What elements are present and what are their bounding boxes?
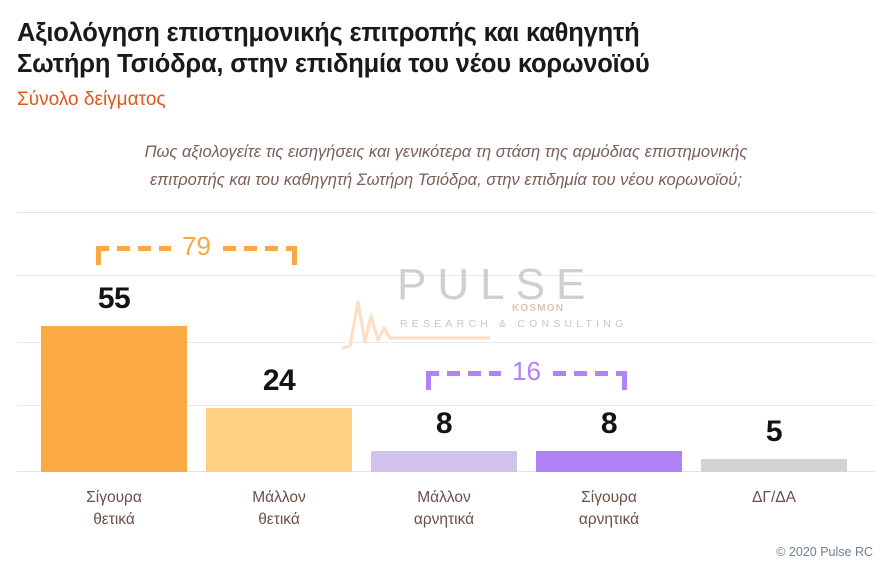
bar-1 (41, 326, 187, 472)
bar-value-label: 55 (41, 284, 187, 314)
survey-question: Πως αξιολογείτε τις εισηγήσεις και γενικ… (36, 138, 856, 194)
gridline (17, 212, 875, 213)
category-label-line: αρνητικά (536, 509, 682, 531)
category-label-line: ΔΓ/ΔΑ (701, 487, 847, 509)
title-line-1: Αξιολόγηση επιστημονικής επιτροπής και κ… (17, 18, 817, 49)
bracket-line-left (426, 371, 501, 376)
copyright-footer: © 2020 Pulse RC (776, 545, 873, 559)
title-line-2: Σωτήρη Τσιόδρα, στην επιδημία του νέου κ… (17, 49, 817, 80)
category-label-line: αρνητικά (371, 509, 517, 531)
bar-5 (701, 459, 847, 472)
category-label-line: Σίγουρα (41, 487, 187, 509)
bar-3 (371, 451, 517, 472)
category-label-line: Σίγουρα (536, 487, 682, 509)
bracket-line-right (223, 246, 298, 251)
category-label-2: Μάλλονθετικά (206, 487, 352, 531)
bracket-tick-right (622, 371, 627, 390)
chart-page: Αξιολόγηση επιστημονικής επιτροπής και κ… (0, 0, 892, 574)
gridline (17, 275, 875, 276)
bar-value-label: 8 (536, 409, 682, 439)
page-title: Αξιολόγηση επιστημονικής επιτροπής και κ… (17, 18, 817, 80)
bar-value-label: 8 (371, 409, 517, 439)
bracket-annotation-2: 16 (426, 363, 627, 389)
category-label-line: Μάλλον (371, 487, 517, 509)
page-subtitle: Σύνολο δείγματος (17, 88, 166, 111)
category-label-5: ΔΓ/ΔΑ (701, 487, 847, 509)
category-label-4: Σίγουρααρνητικά (536, 487, 682, 531)
bracket-tick-left (96, 246, 101, 265)
bracket-tick-left (426, 371, 431, 390)
question-line-1: Πως αξιολογείτε τις εισηγήσεις και γενικ… (36, 138, 856, 166)
category-label-line: θετικά (41, 509, 187, 531)
bar-4 (536, 451, 682, 472)
bracket-value-label: 79 (171, 233, 223, 259)
bracket-value-label: 16 (501, 358, 553, 384)
bracket-line-left (96, 246, 171, 251)
bar-value-label: 5 (701, 417, 847, 447)
category-label-line: θετικά (206, 509, 352, 531)
bar-2 (206, 408, 352, 472)
category-label-3: Μάλλοναρνητικά (371, 487, 517, 531)
category-label-line: Μάλλον (206, 487, 352, 509)
bracket-annotation-1: 79 (96, 238, 297, 264)
question-line-2: επιτροπής και του καθηγητή Σωτήρη Τσιόδρ… (36, 166, 856, 194)
category-label-1: Σίγουραθετικά (41, 487, 187, 531)
bracket-tick-right (292, 246, 297, 265)
bar-value-label: 24 (206, 366, 352, 396)
bracket-line-right (553, 371, 628, 376)
